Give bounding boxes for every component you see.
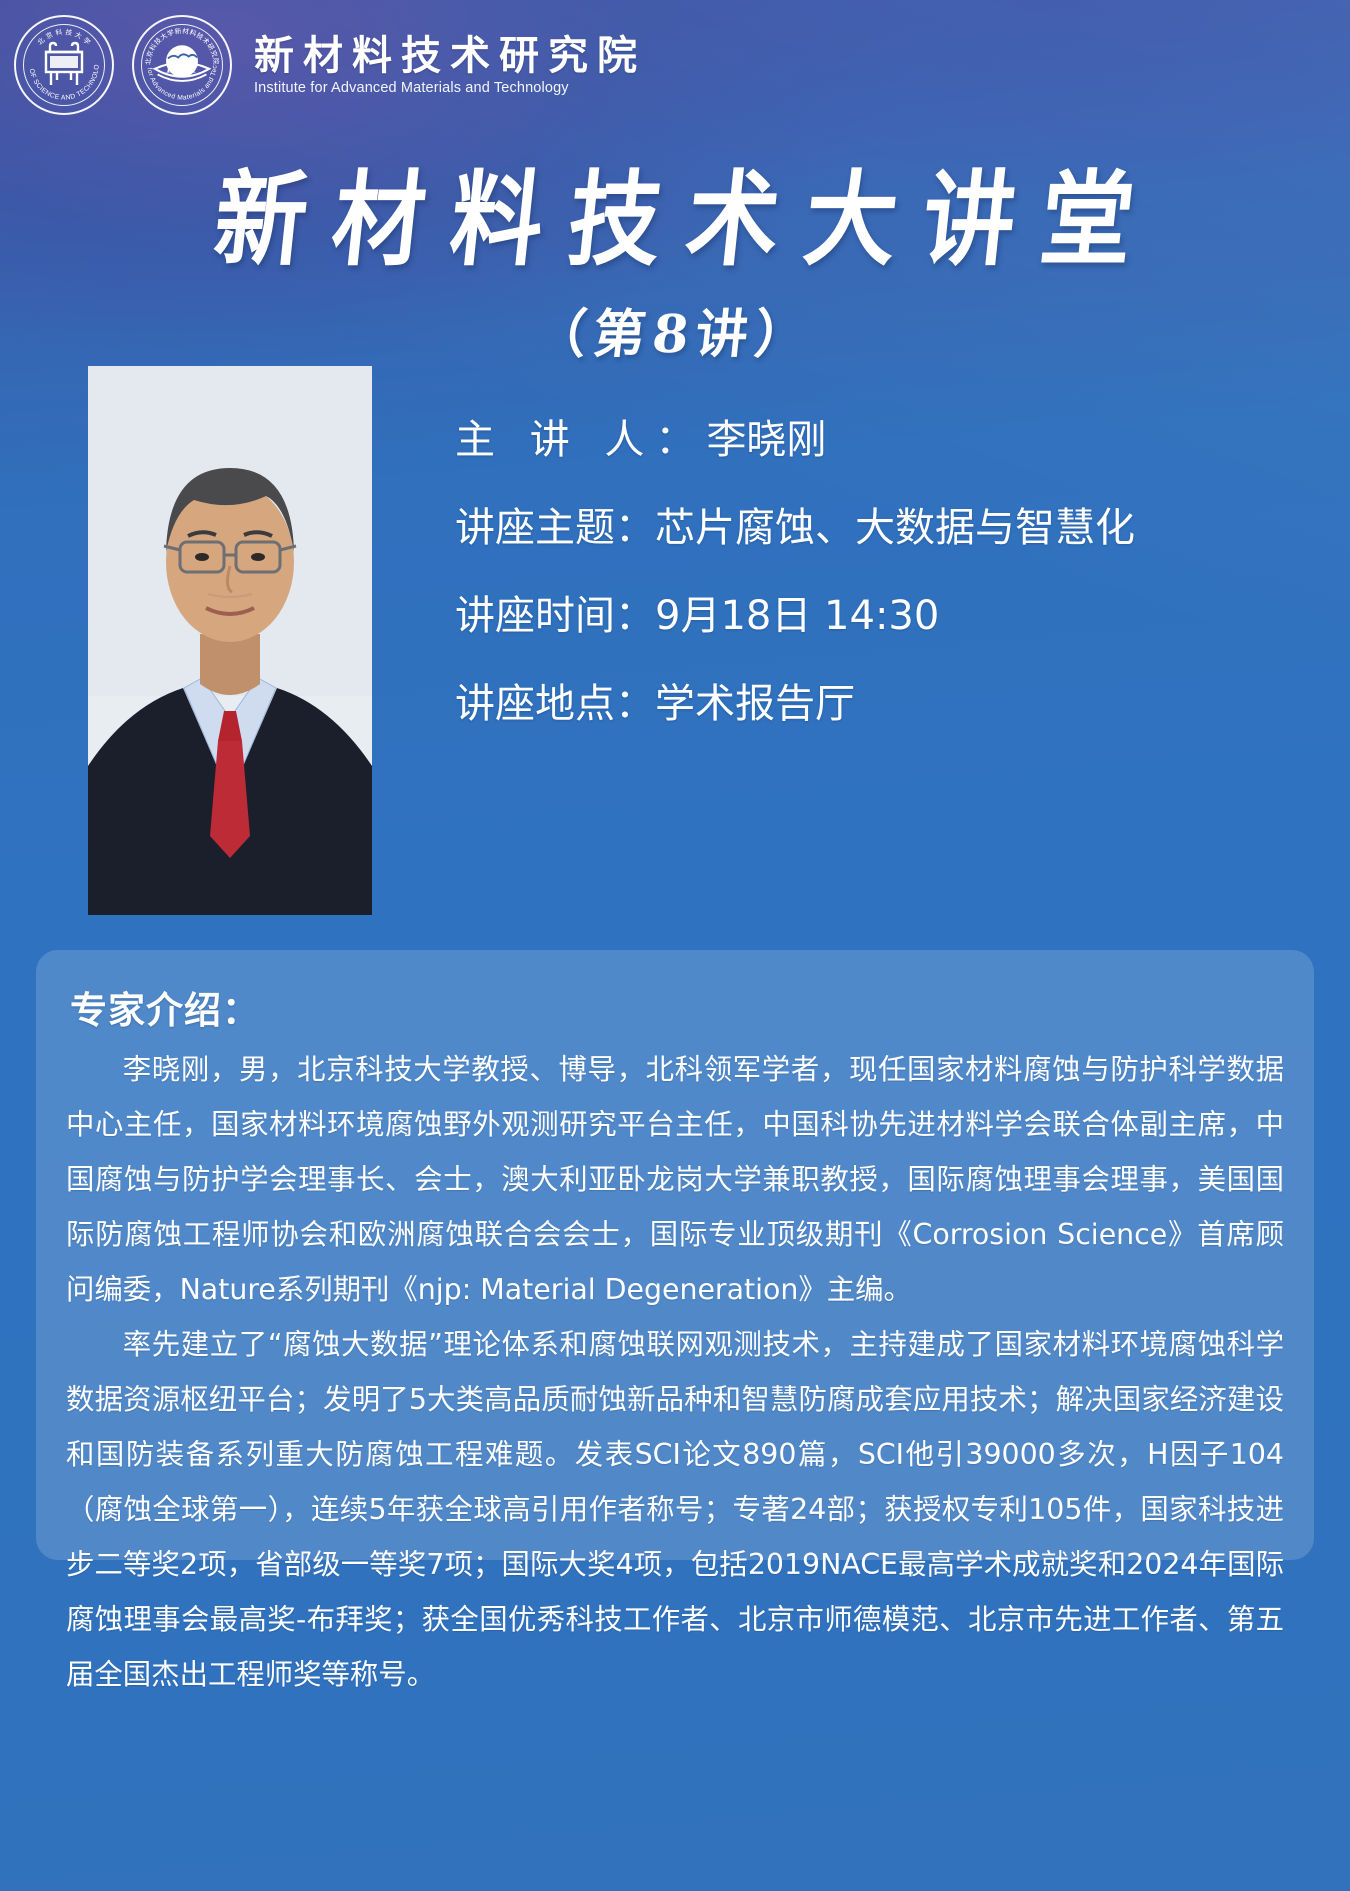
poster-header: 北 京 科 技 大 学 UNIVERSITY OF SCIENCE AND TE… — [0, 0, 1350, 130]
info-value-time: 9月18日 14:30 — [655, 593, 939, 639]
info-label-time: 讲座时间： — [455, 593, 655, 639]
institute-name-cn: 新材料技术研究院 — [254, 35, 646, 77]
info-value-speaker: 李晓刚 — [706, 417, 826, 463]
info-row-speaker: 主 讲 人：李晓刚 — [455, 420, 1315, 460]
info-row-topic: 讲座主题：芯片腐蚀、大数据与智慧化 — [455, 508, 1315, 548]
page-subtitle: （第8讲） — [531, 292, 818, 367]
expert-intro-paragraph-1: 李晓刚，男，北京科技大学教授、博导，北科领军学者，现任国家材料腐蚀与防护科学数据… — [66, 1042, 1284, 1317]
info-row-time: 讲座时间：9月18日 14:30 — [455, 596, 1315, 636]
lecture-info: 主 讲 人：李晓刚 讲座主题：芯片腐蚀、大数据与智慧化 讲座时间：9月18日 1… — [455, 420, 1315, 772]
info-label-location: 讲座地点： — [455, 681, 655, 727]
info-row-location: 讲座地点：学术报告厅 — [455, 684, 1315, 724]
expert-intro-paragraph-2: 率先建立了“腐蚀大数据”理论体系和腐蚀联网观测技术，主持建成了国家材料环境腐蚀科… — [66, 1317, 1284, 1702]
institute-name-en: Institute for Advanced Materials and Tec… — [254, 80, 646, 96]
ustb-ding-vessel-icon — [33, 34, 95, 96]
speaker-portrait — [88, 366, 372, 915]
institute-brand: 新材料技术研究院 Institute for Advanced Material… — [254, 35, 646, 96]
ustb-seal-logo: 北 京 科 技 大 学 UNIVERSITY OF SCIENCE AND TE… — [14, 15, 114, 115]
expert-intro-title: 专家介绍： — [70, 980, 1284, 1034]
title-block: 新材料技术大讲堂 （第8讲） — [0, 145, 1350, 367]
poster-background: 北 京 科 技 大 学 UNIVERSITY OF SCIENCE AND TE… — [0, 0, 1350, 1891]
info-label-topic: 讲座主题： — [455, 505, 655, 551]
iamt-wordmark: IAMT — [165, 62, 198, 76]
info-label-speaker: 主 讲 人： — [455, 417, 706, 463]
page-title: 新材料技术大讲堂 — [182, 137, 1168, 286]
info-value-topic: 芯片腐蚀、大数据与智慧化 — [655, 505, 1135, 551]
iamt-globe-icon: IAMT — [151, 34, 213, 96]
info-value-location: 学术报告厅 — [655, 681, 855, 727]
expert-intro-panel: 专家介绍： 李晓刚，男，北京科技大学教授、博导，北科领军学者，现任国家材料腐蚀与… — [36, 950, 1314, 1560]
iamt-seal-logo: 北京科技大学新材料技术研究院 Institute for Advanced Ma… — [132, 15, 232, 115]
